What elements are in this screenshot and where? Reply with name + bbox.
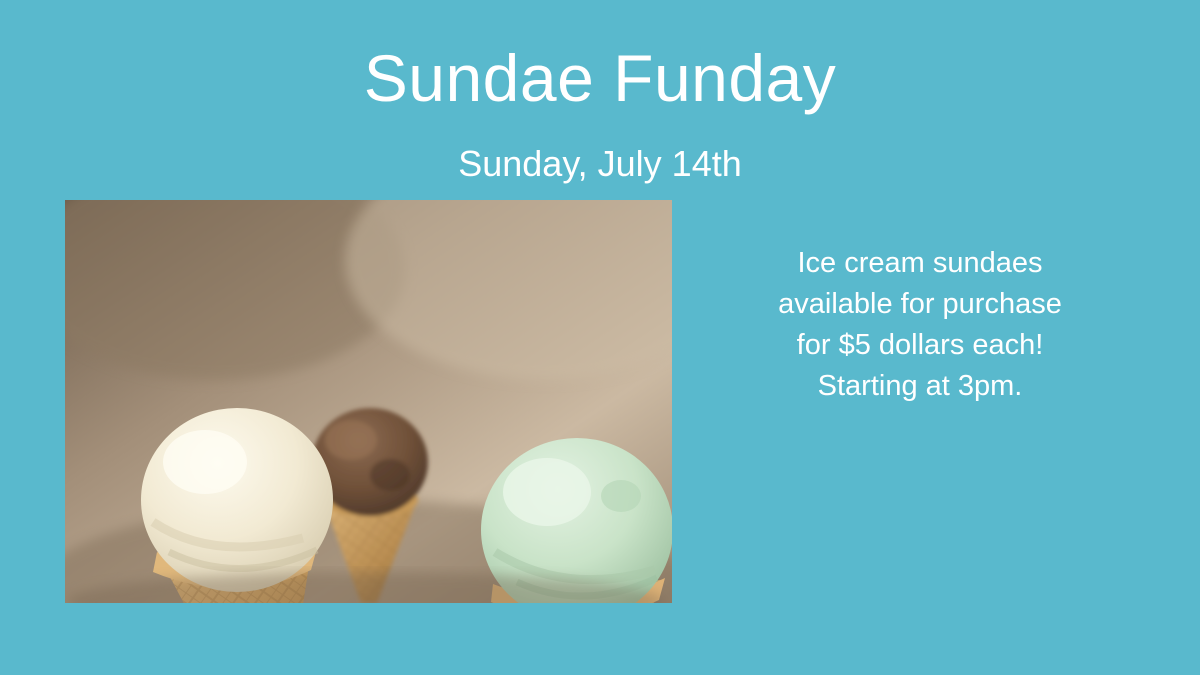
page-subtitle: Sunday, July 14th bbox=[0, 142, 1200, 185]
slide-canvas: Sundae Funday Sunday, July 14th bbox=[0, 0, 1200, 675]
event-details-line: Starting at 3pm. bbox=[700, 366, 1140, 407]
event-details-line: available for purchase bbox=[700, 284, 1140, 325]
event-details-text: Ice cream sundaes available for purchase… bbox=[700, 243, 1140, 407]
page-title: Sundae Funday bbox=[0, 42, 1200, 115]
event-details-line: for $5 dollars each! bbox=[700, 325, 1140, 366]
event-details-line: Ice cream sundaes bbox=[700, 243, 1140, 284]
ice-cream-cones-photo bbox=[65, 200, 672, 603]
